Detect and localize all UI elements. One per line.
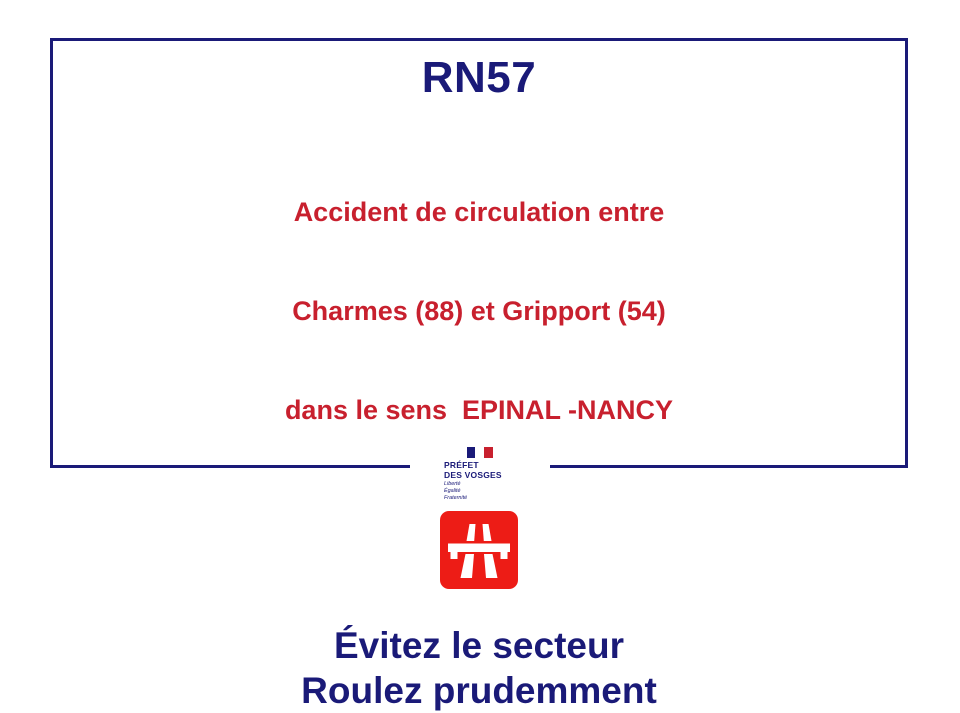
advice-message: Évitez le secteur Roulez prudemment xyxy=(301,623,657,713)
french-flag-icon xyxy=(467,447,493,458)
advice-line: Évitez le secteur xyxy=(301,623,657,668)
advice-line: Roulez prudemment xyxy=(301,668,657,713)
motto-line: Égalité xyxy=(444,488,536,495)
logo-name-line: DES VOSGES xyxy=(444,470,502,480)
logo-name-line: PRÉFET xyxy=(444,460,479,470)
alert-message: Accident de circulation entre Charmes (8… xyxy=(285,130,673,492)
logo-name: PRÉFET DES VOSGES xyxy=(424,460,536,480)
motorway-icon xyxy=(440,511,518,589)
traffic-alert-poster: RN57 Accident de circulation entre Charm… xyxy=(0,0,960,540)
prefecture-logo: PRÉFET DES VOSGES Liberté Égalité Frater… xyxy=(410,447,550,502)
pictogram-container xyxy=(440,511,518,589)
logo-motto: Liberté Égalité Fraternité xyxy=(424,481,536,502)
alert-line: Charmes (88) et Gripport (54) xyxy=(285,295,673,328)
motto-line: Fraternité xyxy=(444,495,536,502)
poster-content: RN57 Accident de circulation entre Charm… xyxy=(50,38,908,468)
alert-line: dans le sens EPINAL -NANCY xyxy=(285,394,673,427)
alert-line: Accident de circulation entre xyxy=(285,196,673,229)
page-title: RN57 xyxy=(422,54,537,102)
